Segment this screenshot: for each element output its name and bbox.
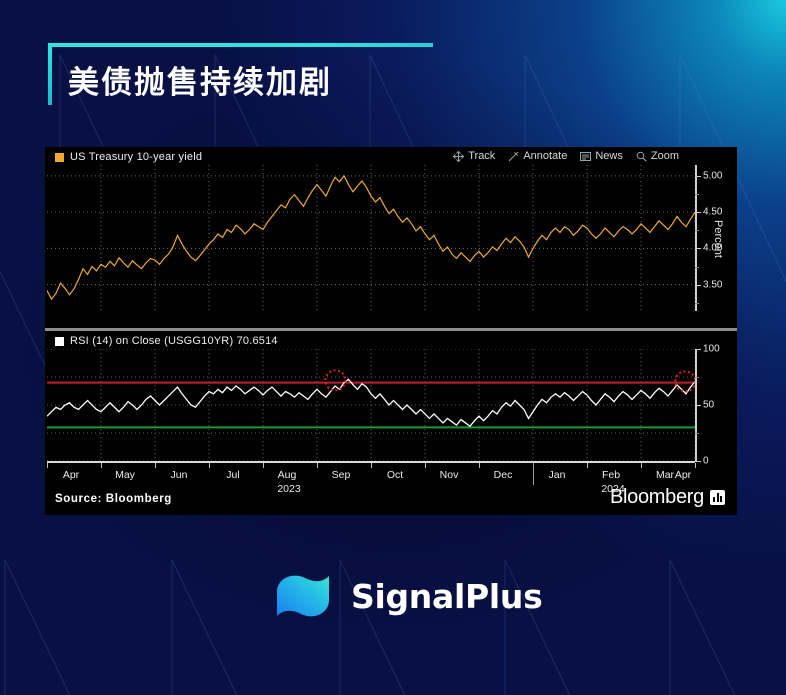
- price-y-tick-mark: [695, 248, 701, 249]
- x-axis-tick: [479, 463, 480, 468]
- signalplus-logo: SignalPlus: [271, 570, 542, 622]
- rsi-y-tick-label: 50: [703, 400, 714, 411]
- poster-root: 美债抛售持续加剧 US Treasury 10-year yield Track: [0, 0, 786, 695]
- price-y-tick-mark: [695, 285, 701, 286]
- rsi-header-label: RSI (14) on Close (USGG10YR) 70.6514: [70, 335, 278, 347]
- x-axis-label: Mar: [656, 469, 674, 481]
- rsi-y-tick-label: 100: [703, 344, 720, 355]
- price-y-tick-label: 3.50: [703, 279, 722, 290]
- rsi-chart-svg: [47, 349, 695, 461]
- crosshair-icon: [453, 151, 464, 162]
- x-axis-label: Feb: [602, 469, 620, 481]
- price-axis-title: Percent: [712, 220, 724, 258]
- x-axis-tick: [263, 463, 264, 468]
- x-axis-tick: [317, 463, 318, 468]
- rsi-y-minor-tick: [695, 433, 699, 434]
- bloomberg-badge-icon: [710, 490, 725, 505]
- signalplus-mark-icon: [271, 570, 337, 622]
- x-axis-label: Dec: [494, 469, 513, 481]
- toolbar-news-label: News: [595, 150, 623, 162]
- x-axis-tick: [47, 463, 48, 468]
- rsi-plot-area: [47, 349, 695, 461]
- x-axis-label: Jul: [226, 469, 239, 481]
- magnifier-icon: [636, 151, 647, 162]
- price-y-minor-tick: [695, 230, 699, 231]
- signalplus-wordmark: SignalPlus: [351, 577, 542, 616]
- x-axis-label: Jun: [171, 469, 188, 481]
- x-axis-year-divider: [533, 463, 534, 485]
- rsi-color-swatch: [55, 337, 64, 346]
- x-axis-label: Apr: [675, 469, 691, 481]
- price-y-tick-mark: [695, 212, 701, 213]
- price-y-minor-tick: [695, 267, 699, 268]
- toolbar-track-label: Track: [468, 150, 495, 162]
- x-axis-label: Sep: [332, 469, 351, 481]
- panel-divider: [45, 328, 737, 331]
- rsi-y-axis: 100500: [695, 349, 737, 461]
- price-chart-svg: [47, 165, 695, 310]
- x-axis-year-label: 2023: [277, 483, 300, 495]
- toolbar-zoom-label: Zoom: [651, 150, 679, 162]
- x-axis-tick: [155, 463, 156, 468]
- newspaper-icon: [580, 151, 591, 162]
- title-accent-top: [48, 43, 433, 47]
- rsi-y-tick-mark: [695, 405, 701, 406]
- x-axis-label: Jan: [549, 469, 566, 481]
- x-axis-label: Oct: [387, 469, 403, 481]
- price-y-tick-label: 5.00: [703, 170, 722, 181]
- price-plot-area: [47, 165, 695, 310]
- x-axis-tick: [209, 463, 210, 468]
- bloomberg-wordmark: Bloomberg: [610, 486, 704, 509]
- legend-color-swatch: [55, 153, 64, 162]
- toolbar-track-button[interactable]: Track: [453, 150, 495, 162]
- price-y-minor-tick: [695, 194, 699, 195]
- rsi-y-minor-tick: [695, 377, 699, 378]
- x-axis-tick: [101, 463, 102, 468]
- x-axis-label: Nov: [440, 469, 459, 481]
- chart-toolbar[interactable]: Track Annotate News: [453, 150, 679, 162]
- pencil-line-icon: [508, 151, 519, 162]
- page-title: 美债抛售持续加剧: [68, 57, 332, 102]
- x-axis-tick: [425, 463, 426, 468]
- x-axis-label: Apr: [63, 469, 79, 481]
- x-axis-tick: [371, 463, 372, 468]
- rsi-y-tick-mark: [695, 349, 701, 350]
- x-axis-label: May: [115, 469, 135, 481]
- toolbar-annotate-button[interactable]: Annotate: [508, 150, 567, 162]
- bloomberg-chart-card: US Treasury 10-year yield Track: [45, 147, 737, 515]
- x-axis-tick: [641, 463, 642, 468]
- rsi-legend[interactable]: RSI (14) on Close (USGG10YR) 70.6514: [55, 335, 278, 347]
- price-y-tick-mark: [695, 176, 701, 177]
- toolbar-zoom-button[interactable]: Zoom: [636, 150, 679, 162]
- x-axis-label: Aug: [278, 469, 297, 481]
- toolbar-news-button[interactable]: News: [580, 150, 623, 162]
- x-axis-tick: [587, 463, 588, 468]
- toolbar-annotate-label: Annotate: [523, 150, 567, 162]
- legend-label: US Treasury 10-year yield: [70, 151, 202, 163]
- price-y-minor-tick: [695, 303, 699, 304]
- title-accent-left: [48, 43, 52, 105]
- source-label: Source: Bloomberg: [55, 493, 172, 505]
- price-y-tick-label: 4.50: [703, 207, 722, 218]
- x-axis-tick: [695, 463, 696, 468]
- bloomberg-logo: Bloomberg: [610, 486, 725, 509]
- price-legend[interactable]: US Treasury 10-year yield: [55, 151, 202, 163]
